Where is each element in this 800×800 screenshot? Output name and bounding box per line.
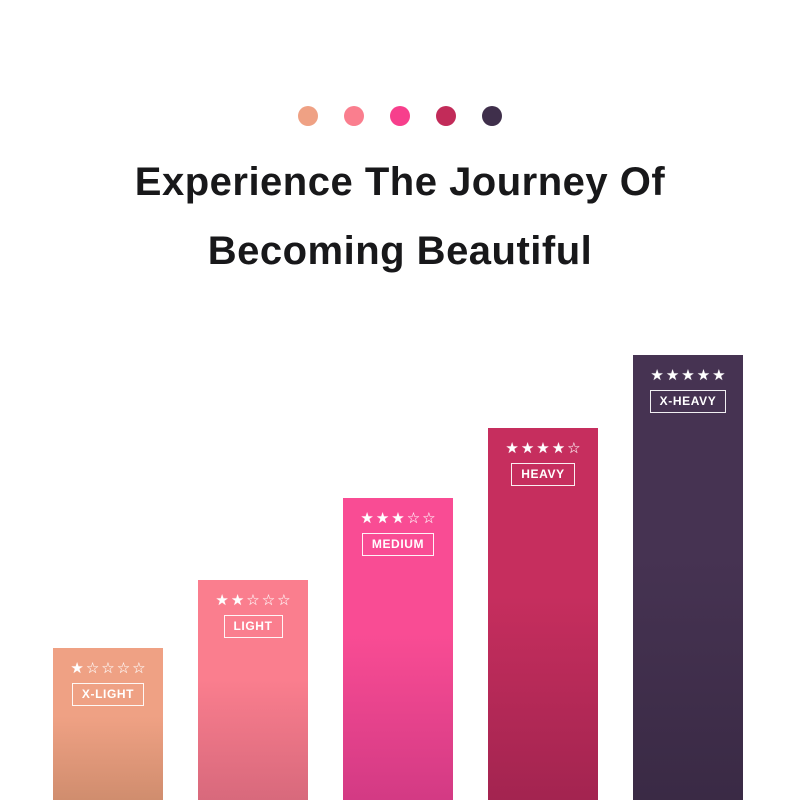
star-filled-icon: ★ [552,441,565,456]
bar-heavy[interactable]: ★★★★☆HEAVY [488,428,598,800]
bar-content-x-light: ★☆☆☆☆X-LIGHT [53,648,163,706]
star-filled-icon: ★ [360,511,373,526]
star-rating-medium: ★★★☆☆ [360,511,435,526]
star-empty-icon: ☆ [262,593,275,608]
bar-content-heavy: ★★★★☆HEAVY [488,428,598,486]
tier-badge-heavy: HEAVY [511,463,574,486]
star-empty-icon: ☆ [422,511,435,526]
star-filled-icon: ★ [391,511,404,526]
tier-badge-medium: MEDIUM [362,533,434,556]
star-filled-icon: ★ [536,441,549,456]
star-filled-icon: ★ [215,593,228,608]
tier-badge-x-heavy: X-HEAVY [650,390,727,413]
star-rating-x-light: ★☆☆☆☆ [70,661,145,676]
star-rating-x-heavy: ★★★★★ [650,368,725,383]
star-filled-icon: ★ [70,661,83,676]
bar-light[interactable]: ★★☆☆☆LIGHT [198,580,308,800]
star-empty-icon: ☆ [407,511,420,526]
product-infographic: Experience The Journey Of Becoming Beaut… [0,0,800,800]
star-filled-icon: ★ [505,441,518,456]
star-empty-icon: ☆ [132,661,145,676]
star-filled-icon: ★ [712,368,725,383]
resistance-band-bar-chart: 10LB★☆☆☆☆X-LIGHT15LB★★☆☆☆LIGHT20LB★★★☆☆M… [0,0,800,800]
bar-content-light: ★★☆☆☆LIGHT [198,580,308,638]
star-filled-icon: ★ [650,368,663,383]
star-empty-icon: ☆ [246,593,259,608]
bar-medium[interactable]: ★★★☆☆MEDIUM [343,498,453,800]
star-rating-light: ★★☆☆☆ [215,593,290,608]
tier-badge-x-light: X-LIGHT [72,683,144,706]
star-filled-icon: ★ [521,441,534,456]
star-empty-icon: ☆ [86,661,99,676]
star-rating-heavy: ★★★★☆ [505,441,580,456]
star-empty-icon: ☆ [567,441,580,456]
star-filled-icon: ★ [376,511,389,526]
star-filled-icon: ★ [231,593,244,608]
bar-x-heavy[interactable]: ★★★★★X-HEAVY [633,355,743,800]
bar-content-medium: ★★★☆☆MEDIUM [343,498,453,556]
star-empty-icon: ☆ [101,661,114,676]
bar-x-light[interactable]: ★☆☆☆☆X-LIGHT [53,648,163,800]
bar-content-x-heavy: ★★★★★X-HEAVY [633,355,743,413]
star-empty-icon: ☆ [117,661,130,676]
star-empty-icon: ☆ [277,593,290,608]
star-filled-icon: ★ [666,368,679,383]
star-filled-icon: ★ [681,368,694,383]
tier-badge-light: LIGHT [224,615,283,638]
star-filled-icon: ★ [697,368,710,383]
